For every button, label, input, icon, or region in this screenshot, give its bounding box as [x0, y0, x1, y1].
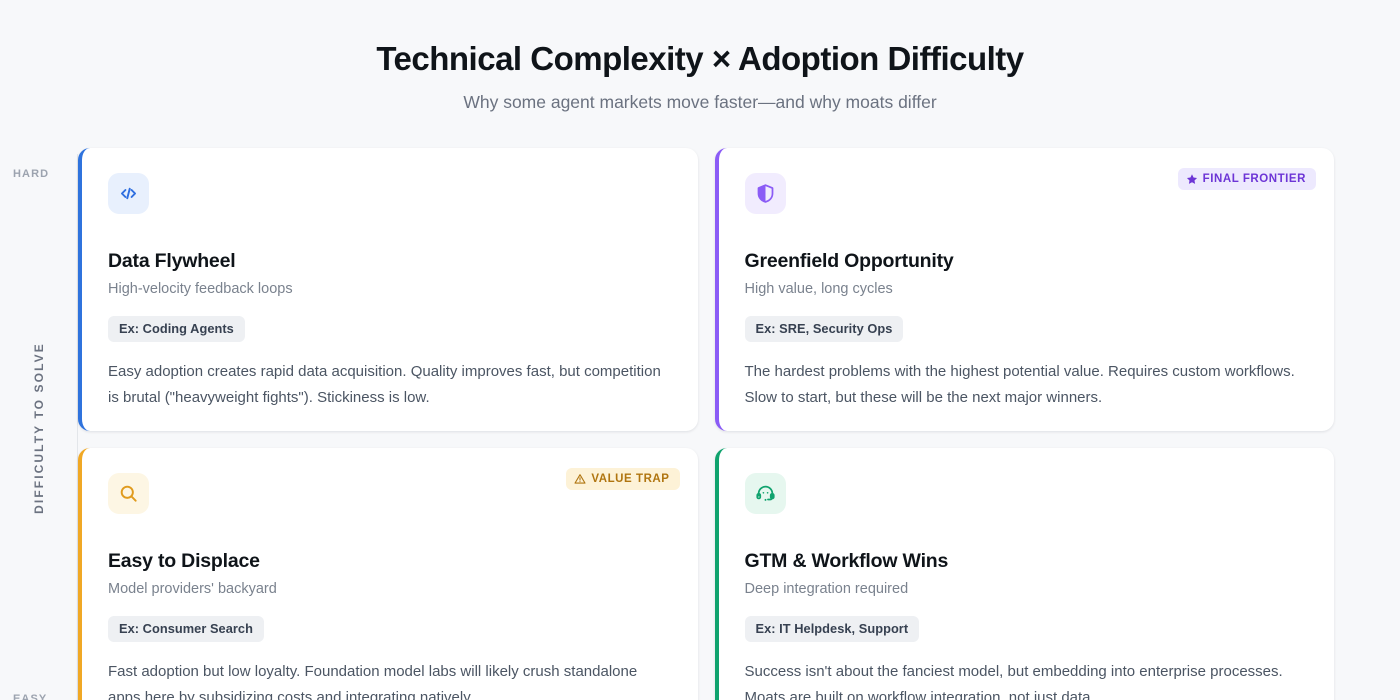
card-title: Easy to Displace	[108, 550, 672, 573]
headset-icon	[745, 473, 786, 514]
card-example-chip: Ex: IT Helpdesk, Support	[745, 616, 920, 642]
y-axis-cap-easy: EASY	[13, 693, 47, 700]
y-axis-label: DIFFICULTY TO SOLVE	[32, 342, 46, 514]
y-axis-cap-hard: HARD	[13, 168, 49, 180]
card-title: GTM & Workflow Wins	[745, 550, 1309, 573]
card-title: Data Flywheel	[108, 250, 672, 273]
status-badge-final-frontier: FINAL FRONTIER	[1178, 168, 1316, 190]
card-subtitle: High value, long cycles	[745, 280, 1309, 299]
card-example-chip: Ex: Consumer Search	[108, 616, 264, 642]
star-icon	[1186, 173, 1198, 185]
quadrant-matrix-page: Technical Complexity × Adoption Difficul…	[0, 0, 1400, 700]
shield-icon	[745, 173, 786, 214]
code-icon	[108, 173, 149, 214]
search-icon	[108, 473, 149, 514]
card-title: Greenfield Opportunity	[745, 250, 1309, 273]
quadrant-card-gtm-workflow-wins[interactable]: GTM & Workflow Wins Deep integration req…	[715, 448, 1335, 700]
quadrant-card-data-flywheel[interactable]: Data Flywheel High-velocity feedback loo…	[78, 148, 698, 431]
status-badge-value-trap: VALUE TRAP	[566, 468, 679, 490]
quadrant-card-greenfield-opportunity[interactable]: FINAL FRONTIER Greenfield Opportunity Hi…	[715, 148, 1335, 431]
card-body-text: The hardest problems with the highest po…	[745, 359, 1309, 411]
badge-label: FINAL FRONTIER	[1203, 173, 1306, 185]
card-subtitle: High-velocity feedback loops	[108, 280, 672, 299]
y-axis: HARD DIFFICULTY TO SOLVE EASY	[0, 148, 78, 700]
card-example-chip: Ex: SRE, Security Ops	[745, 316, 904, 342]
quadrant-grid: Data Flywheel High-velocity feedback loo…	[78, 148, 1400, 700]
quadrant-card-easy-to-displace[interactable]: VALUE TRAP Easy to Displace Model provid…	[78, 448, 698, 700]
page-header: Technical Complexity × Adoption Difficul…	[0, 0, 1400, 114]
card-body-text: Easy adoption creates rapid data acquisi…	[108, 359, 672, 411]
page-title: Technical Complexity × Adoption Difficul…	[0, 40, 1400, 78]
card-subtitle: Deep integration required	[745, 580, 1309, 599]
card-subtitle: Model providers' backyard	[108, 580, 672, 599]
card-body-text: Fast adoption but low loyalty. Foundatio…	[108, 659, 672, 700]
matrix-body: HARD DIFFICULTY TO SOLVE EASY Data Flywh…	[0, 148, 1400, 700]
card-example-chip: Ex: Coding Agents	[108, 316, 245, 342]
warning-triangle-icon	[574, 473, 586, 485]
badge-label: VALUE TRAP	[591, 473, 669, 485]
card-body-text: Success isn't about the fanciest model, …	[745, 659, 1309, 700]
page-subtitle: Why some agent markets move faster—and w…	[0, 91, 1400, 114]
